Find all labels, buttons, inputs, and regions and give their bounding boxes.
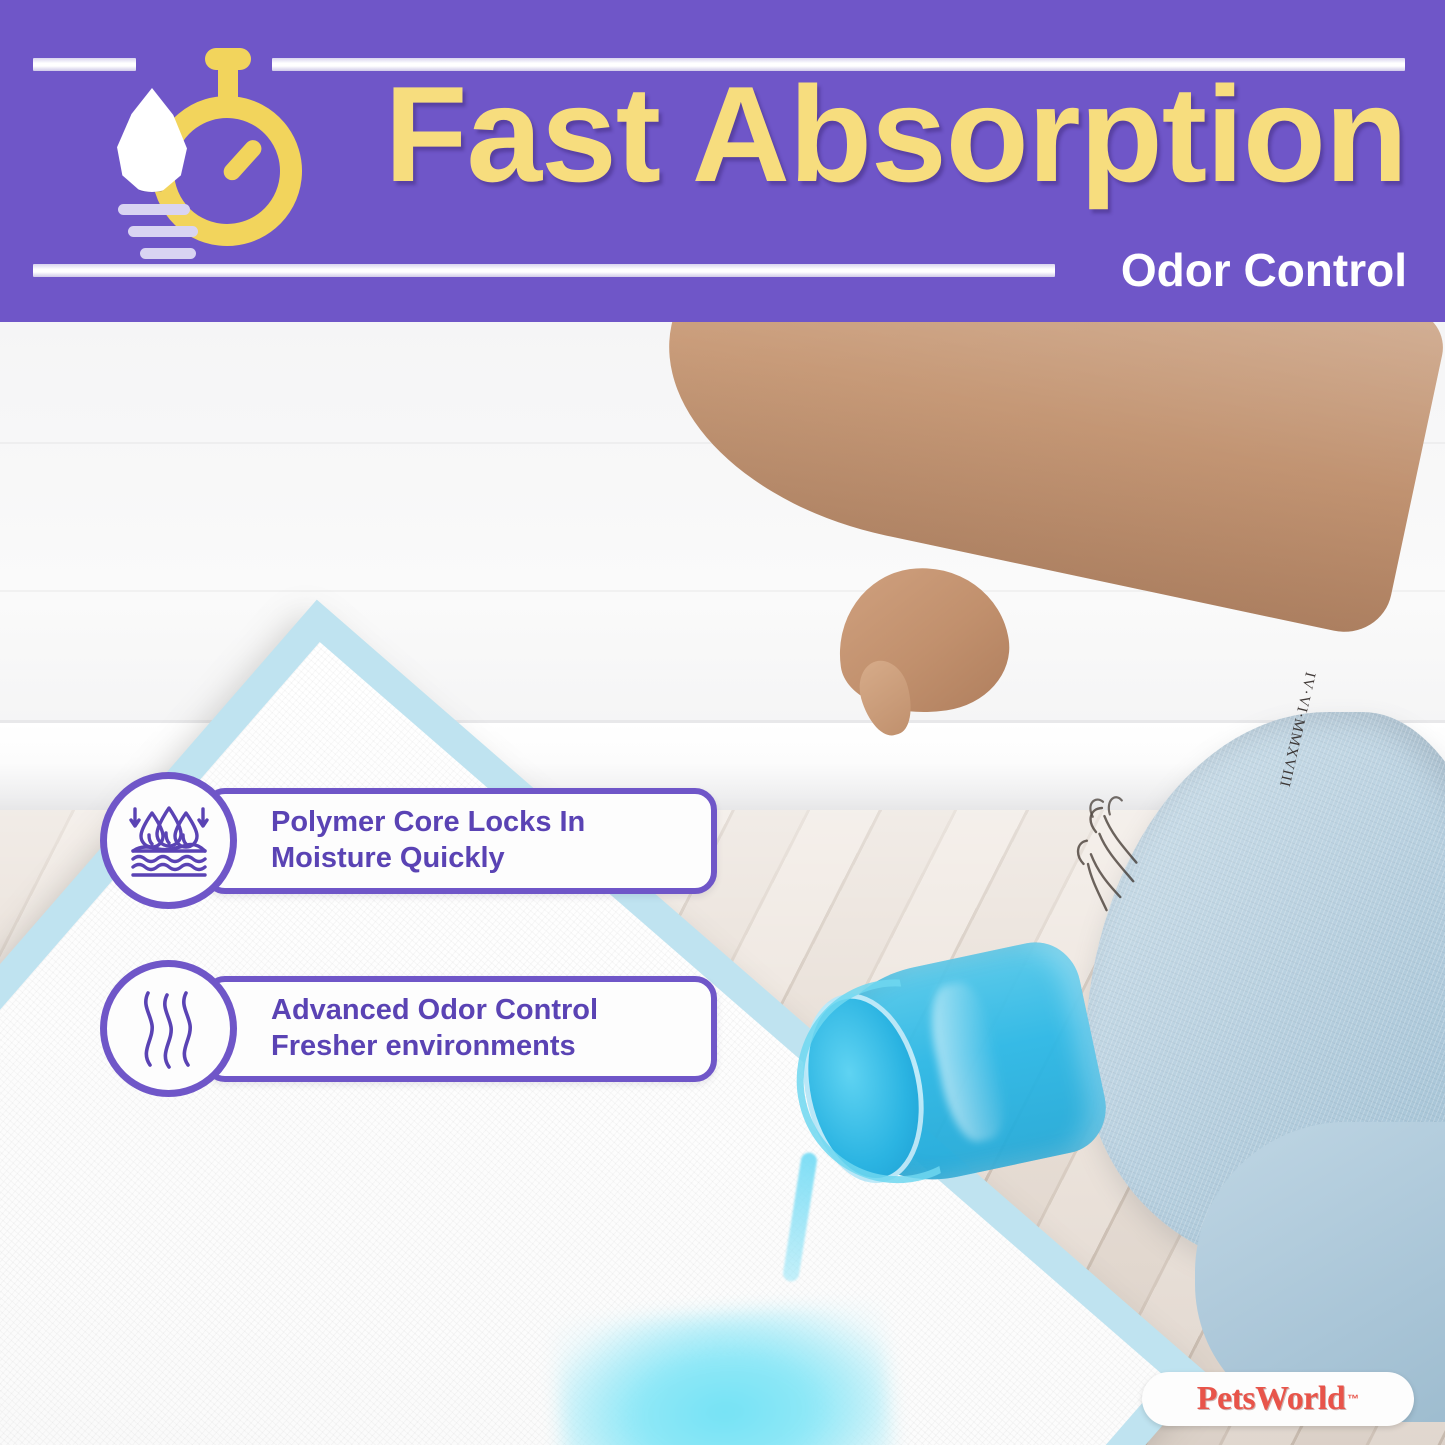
absorption-droplets-glyph bbox=[121, 793, 217, 889]
feature-text: Polymer Core Locks In Moisture Quickly bbox=[209, 805, 603, 876]
stopwatch-droplet-icon bbox=[92, 38, 332, 288]
water-droplet-icon bbox=[114, 88, 190, 192]
feature-line-1: Polymer Core Locks In bbox=[271, 805, 585, 840]
product-photo: IV·VI·MMXVIII bbox=[0, 322, 1445, 1445]
feature-line-1: Advanced Odor Control bbox=[271, 993, 598, 1028]
speed-line-icon bbox=[128, 226, 198, 237]
header-subtitle: Odor Control bbox=[1121, 247, 1407, 293]
speed-line-icon bbox=[118, 204, 190, 215]
brand-name: PetsWorld bbox=[1197, 1380, 1345, 1418]
speed-line-icon bbox=[140, 248, 196, 259]
header-title: Fast Absorption bbox=[384, 66, 1407, 202]
absorbed-liquid-spot bbox=[553, 1301, 896, 1445]
feature-text: Advanced Odor Control Fresher environmen… bbox=[209, 993, 616, 1064]
brand-logo: PetsWorld™ bbox=[1142, 1372, 1414, 1426]
absorption-droplets-icon bbox=[100, 772, 237, 909]
trademark-symbol: ™ bbox=[1347, 1392, 1359, 1406]
odor-waves-icon bbox=[100, 960, 237, 1097]
header-banner: Fast Absorption Odor Control bbox=[0, 0, 1445, 322]
feature-callout-polymer-core: Polymer Core Locks In Moisture Quickly bbox=[100, 772, 717, 909]
feature-callout-odor-control: Advanced Odor Control Fresher environmen… bbox=[100, 960, 717, 1097]
product-marketing-image: Fast Absorption Odor Control IV·VI·MMXVI… bbox=[0, 0, 1445, 1445]
odor-waves-glyph bbox=[124, 981, 214, 1077]
feature-line-2: Fresher environments bbox=[271, 1029, 598, 1064]
feature-callout-box: Polymer Core Locks In Moisture Quickly bbox=[203, 788, 717, 894]
feature-line-2: Moisture Quickly bbox=[271, 841, 585, 876]
feature-callout-box: Advanced Odor Control Fresher environmen… bbox=[203, 976, 717, 1082]
